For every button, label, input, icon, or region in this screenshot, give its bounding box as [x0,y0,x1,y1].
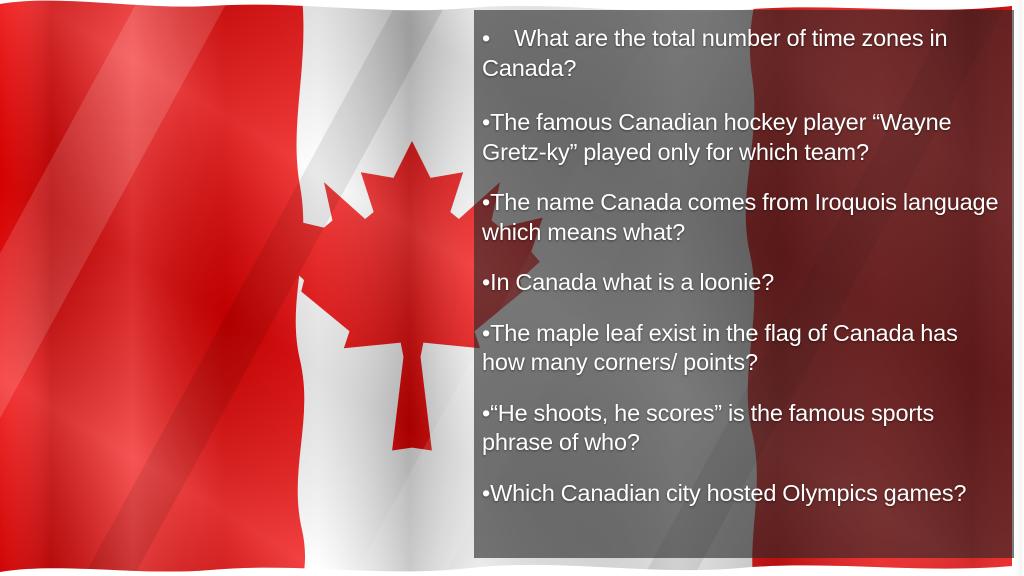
question-item: •The name Canada comes from Iroquois lan… [482,188,1002,247]
question-indent [490,25,514,51]
question-text: Which Canadian city hosted Olympics game… [490,480,966,506]
bullet-icon: • [482,109,490,135]
bullet-icon: • [482,480,490,506]
question-text: The maple leaf exist in the flag of Cana… [482,320,958,376]
question-text: In Canada what is a loonie? [490,269,774,295]
question-text: What are the total number of time zones … [482,25,947,81]
question-item: • What are the total number of time zone… [482,24,1002,83]
question-text: “He shoots, he scores” is the famous spo… [482,400,934,456]
questions-list: • What are the total number of time zone… [474,10,1014,558]
question-text: The famous Canadian hockey player “Wayne… [482,109,951,165]
bullet-icon: • [482,25,490,51]
bullet-icon: • [482,320,490,346]
bullet-icon: • [482,400,490,426]
bullet-icon: • [482,189,490,215]
questions-panel: • What are the total number of time zone… [474,10,1014,558]
question-item: •The maple leaf exist in the flag of Can… [482,319,1002,378]
question-text: The name Canada comes from Iroquois lang… [482,189,998,245]
question-item: •“He shoots, he scores” is the famous sp… [482,399,1002,458]
question-item: •In Canada what is a loonie? [482,268,1002,298]
question-item: •The famous Canadian hockey player “Wayn… [482,108,1002,167]
slide-canvas: • What are the total number of time zone… [0,0,1024,576]
bullet-icon: • [482,269,490,295]
question-item: •Which Canadian city hosted Olympics gam… [482,479,1002,509]
